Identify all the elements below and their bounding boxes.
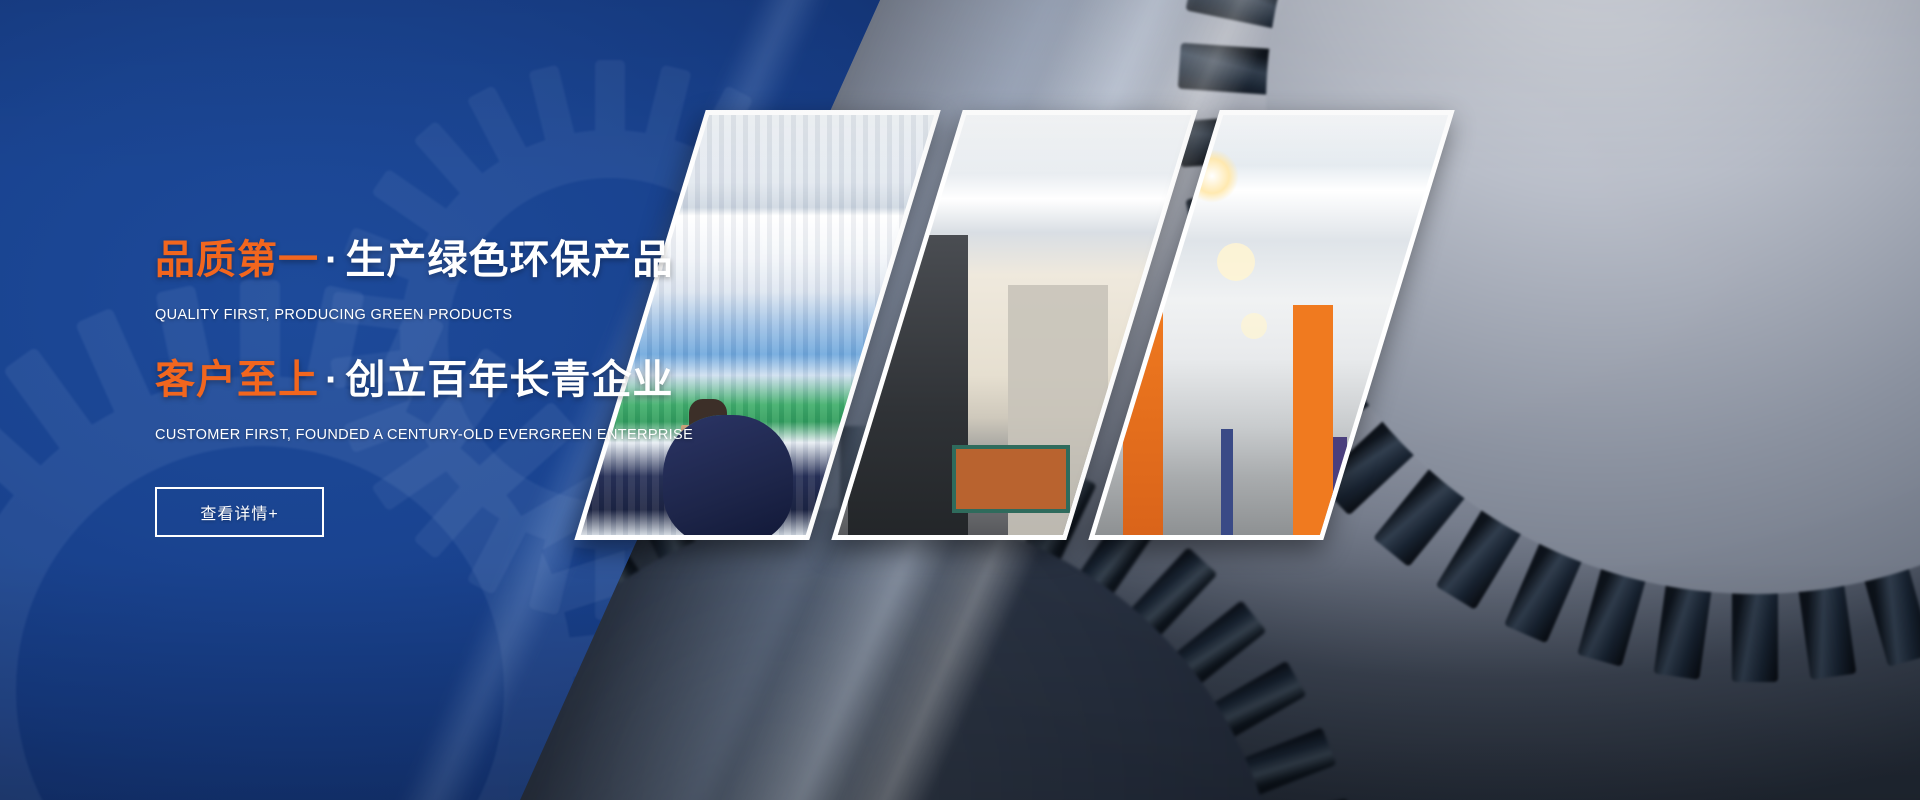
headline-primary-accent: 品质第一 (155, 238, 319, 282)
gear-tooth (595, 60, 625, 138)
headline-secondary-separator: · (319, 358, 345, 402)
headline-primary: 品质第一·生产绿色环保产品 (155, 240, 795, 280)
headline-secondary-rest: 创立百年长青企业 (345, 358, 673, 402)
subtitle-primary: QUALITY FIRST, PRODUCING GREEN PRODUCTS (155, 307, 795, 323)
headline-secondary: 客户至上·创立百年长青企业 (155, 360, 795, 400)
headline-primary-separator: · (319, 238, 345, 282)
hero-banner: 品质第一·生产绿色环保产品 QUALITY FIRST, PRODUCING G… (0, 0, 1920, 800)
view-details-button[interactable]: 查看详情+ (155, 487, 324, 537)
subtitle-secondary: CUSTOMER FIRST, FOUNDED A CENTURY-OLD EV… (155, 427, 795, 443)
headline-primary-rest: 生产绿色环保产品 (345, 238, 673, 282)
headline-secondary-accent: 客户至上 (155, 358, 319, 402)
hero-text-block: 品质第一·生产绿色环保产品 QUALITY FIRST, PRODUCING G… (155, 190, 795, 537)
